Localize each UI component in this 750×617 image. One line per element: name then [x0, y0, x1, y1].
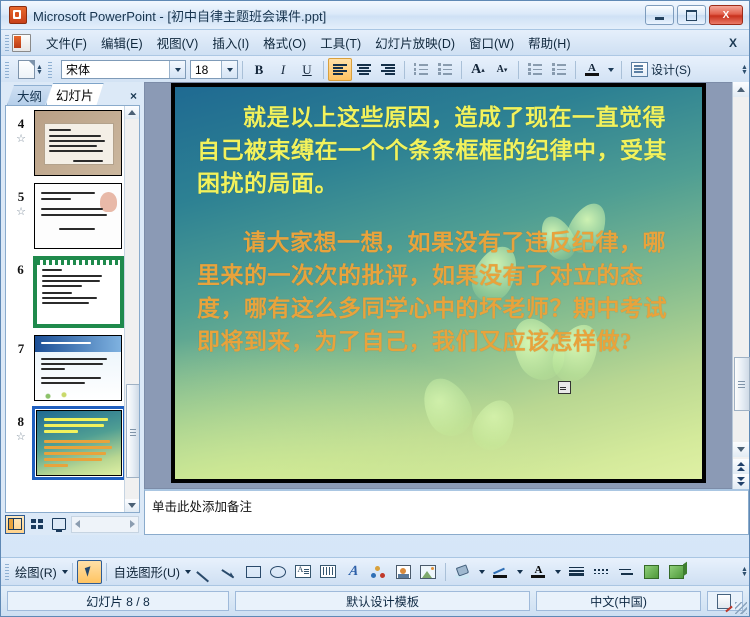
resize-grip[interactable] — [735, 602, 747, 614]
thumbnail-meta: 7 — [8, 335, 34, 357]
font-name-dropdown-icon[interactable] — [169, 61, 185, 78]
thumbnail-scrollbar[interactable] — [124, 106, 139, 512]
drawing-toolbar: 绘图(R) 自选图形(U) A A ▲▼ — [1, 557, 749, 585]
slide-scroll-down-button[interactable] — [733, 442, 749, 457]
align-center-button[interactable] — [352, 58, 376, 81]
thumbnail-preview[interactable] — [36, 410, 122, 476]
font-color-button[interactable]: A — [580, 58, 604, 81]
decrease-font-button[interactable]: A▾ — [490, 58, 514, 81]
separator-6 — [575, 61, 576, 79]
menu-tools[interactable]: 工具(T) — [313, 30, 368, 55]
pane-horizontal-scrollbar[interactable] — [71, 516, 139, 533]
notes-placeholder: 单击此处添加备注 — [152, 500, 252, 514]
thumbnail-scroll-thumb[interactable] — [126, 384, 140, 478]
thumbnail-scroll-down-button[interactable] — [125, 499, 139, 512]
arrow-style-icon[interactable] — [614, 560, 639, 584]
rectangle-icon[interactable] — [241, 560, 266, 584]
menu-view[interactable]: 视图(V) — [150, 30, 206, 55]
text-box-icon[interactable] — [291, 560, 316, 584]
scroll-right-icon[interactable] — [130, 520, 135, 528]
title-bar: Microsoft PowerPoint - [初中自律主题班会课件.ppt] … — [1, 1, 749, 30]
menu-edit[interactable]: 编辑(E) — [94, 30, 150, 55]
tab-outline[interactable]: 大纲 — [7, 85, 52, 105]
fill-color-caret-icon[interactable] — [475, 560, 488, 584]
restore-icon — [686, 10, 697, 21]
powerpoint-icon — [9, 6, 27, 24]
numbered-list-button[interactable] — [409, 58, 433, 81]
font-color-caret-icon[interactable] — [551, 560, 564, 584]
editing-pane: 就是以上这些原因，造成了现在一直觉得自己被束缚在一个个条条框框的纪律中，受其困扰… — [144, 82, 749, 535]
thumbnail-meta: 4 ☆ — [8, 110, 34, 145]
toolbar-grip-2[interactable] — [48, 62, 52, 78]
language-cell: 中文(中国) — [536, 591, 701, 611]
toolbar-grip-1[interactable] — [5, 62, 9, 78]
minimize-button[interactable] — [645, 5, 674, 25]
thumbnail-number: 7 — [8, 341, 34, 357]
separator-1 — [242, 61, 243, 79]
menu-insert[interactable]: 插入(I) — [205, 30, 256, 55]
toolbar-overflow-2[interactable]: ▲▼ — [740, 60, 749, 80]
animation-star-icon[interactable]: ☆ — [8, 133, 34, 145]
clip-art-icon[interactable] — [391, 560, 416, 584]
draw-menu-button[interactable]: 绘图(R) — [12, 563, 60, 581]
status-bar: 幻灯片 8 / 8 默认设计模板 中文(中国) — [1, 585, 749, 616]
draw-separator-1 — [72, 563, 73, 581]
thumbnail-item-4[interactable]: 4 ☆ — [6, 110, 124, 176]
slide-paragraph-1[interactable]: 就是以上这些原因，造成了现在一直觉得自己被束缚在一个个条条框框的纪律中，受其困扰… — [197, 101, 680, 200]
design-button[interactable]: 设计(S) — [626, 59, 696, 80]
align-left-button[interactable] — [328, 58, 352, 81]
font-name-value: 宋体 — [66, 61, 90, 78]
drawing-toolbar-grip[interactable] — [5, 564, 9, 580]
pane-tab-row: 大纲 幻灯片 × — [1, 82, 144, 105]
arrow-icon[interactable] — [216, 560, 241, 584]
font-size-combo[interactable]: 18 — [190, 60, 238, 79]
increase-indent-button[interactable] — [547, 58, 571, 81]
draw-separator-3 — [445, 563, 446, 581]
thumbnail-number: 8 — [8, 414, 34, 430]
design-label: 设计(S) — [651, 61, 691, 78]
notes-pane[interactable]: 单击此处添加备注 — [144, 489, 749, 535]
separator-5 — [518, 61, 519, 79]
wordart-icon[interactable]: A — [341, 560, 366, 584]
thumbnail-item-8[interactable]: 8 ☆ — [6, 408, 124, 478]
slide-canvas-area[interactable]: 就是以上这些原因，造成了现在一直觉得自己被束缚在一个个条条框框的纪律中，受其困扰… — [144, 82, 732, 489]
italic-button[interactable]: I — [271, 58, 295, 81]
thumbnail-scroll-up-button[interactable] — [125, 106, 139, 119]
new-slide-icon[interactable] — [18, 60, 35, 79]
3d-style-icon[interactable] — [664, 560, 689, 584]
thumbnail-item-5[interactable]: 5 ☆ — [6, 183, 124, 249]
draw-menu-caret-icon[interactable] — [62, 570, 68, 574]
separator-4 — [461, 61, 462, 79]
view-buttons-bar — [1, 513, 144, 535]
line-icon[interactable] — [191, 560, 216, 584]
slide-counter-cell: 幻灯片 8 / 8 — [7, 591, 229, 611]
menu-slideshow[interactable]: 幻灯片放映(D) — [368, 30, 462, 55]
font-size-dropdown-icon[interactable] — [221, 61, 237, 78]
font-color-dropdown-icon[interactable] — [604, 58, 617, 81]
thumbnail-list: 4 ☆ — [6, 106, 124, 512]
menu-window[interactable]: 窗口(W) — [462, 30, 521, 55]
line-style-icon[interactable] — [564, 560, 589, 584]
picture-icon[interactable] — [416, 560, 441, 584]
thumbnail-item-6[interactable]: 6 — [6, 256, 124, 328]
thumbnail-preview[interactable] — [34, 110, 122, 176]
document-icon — [12, 34, 31, 52]
menu-grip[interactable] — [5, 35, 9, 51]
menu-format[interactable]: 格式(O) — [256, 30, 313, 55]
line-color-icon[interactable] — [488, 560, 513, 584]
thumbnail-meta: 8 ☆ — [8, 408, 34, 443]
formatting-toolbar: ▲▼ 宋体 18 B I U A▴ A▾ A 设计(S) — [1, 56, 749, 84]
powerpoint-window: Microsoft PowerPoint - [初中自律主题班会课件.ppt] … — [0, 0, 750, 617]
thumbnail-number: 4 — [8, 116, 34, 132]
dash-style-icon[interactable] — [589, 560, 614, 584]
menu-help[interactable]: 帮助(H) — [521, 30, 577, 55]
separator-7 — [621, 61, 622, 79]
close-pane-button[interactable]: × — [130, 89, 137, 103]
close-button[interactable]: X — [709, 5, 743, 25]
slides-pane: 大纲 幻灯片 × 4 ☆ — [1, 82, 144, 535]
shadow-style-icon[interactable] — [639, 560, 664, 584]
draw-separator-2 — [106, 563, 107, 581]
thumbnail-preview[interactable] — [34, 183, 122, 249]
text-cursor-icon — [558, 381, 571, 394]
restore-button[interactable] — [677, 5, 706, 25]
separator-3 — [404, 61, 405, 79]
slide-show-button[interactable] — [49, 515, 69, 534]
slide-text-container[interactable]: 就是以上这些原因，造成了现在一直觉得自己被束缚在一个个条条框框的纪律中，受其困扰… — [175, 101, 702, 358]
window-title: Microsoft PowerPoint - [初中自律主题班会课件.ppt] — [33, 6, 326, 25]
separator-2 — [323, 61, 324, 79]
main-area: 大纲 幻灯片 × 4 ☆ — [1, 82, 749, 535]
close-document-button[interactable]: X — [729, 36, 737, 50]
minimize-icon — [655, 17, 664, 20]
font-size-value: 18 — [195, 63, 208, 77]
menu-bar: 文件(F) 编辑(E) 视图(V) 插入(I) 格式(O) 工具(T) 幻灯片放… — [1, 30, 749, 56]
spell-check-icon — [717, 594, 733, 609]
slide-scroll-up-button[interactable] — [733, 82, 749, 97]
toolbar-overflow-1[interactable]: ▲▼ — [35, 60, 44, 80]
scroll-left-icon[interactable] — [75, 520, 80, 528]
bulleted-list-button[interactable] — [433, 58, 457, 81]
font-color-icon[interactable]: A — [526, 560, 551, 584]
oval-icon[interactable] — [266, 560, 291, 584]
autoshapes-menu-button[interactable]: 自选图形(U) — [111, 563, 183, 581]
slide-paragraph-2[interactable]: 请大家想一想，如果没有了违反纪律，哪里来的一次次的批评，如果没有了对立的态度，哪… — [197, 226, 680, 358]
normal-view-button[interactable] — [5, 515, 25, 534]
fill-color-icon[interactable] — [450, 560, 475, 584]
thumbnail-item-7[interactable]: 7 — [6, 335, 124, 401]
thumbnail-preview[interactable] — [33, 256, 124, 328]
vertical-text-box-icon[interactable] — [316, 560, 341, 584]
tab-slides[interactable]: 幻灯片 — [46, 83, 104, 105]
diagram-icon[interactable] — [366, 560, 391, 584]
increase-font-button[interactable]: A▴ — [466, 58, 490, 81]
animation-star-icon[interactable]: ☆ — [8, 206, 34, 218]
select-arrow-icon[interactable] — [77, 560, 102, 584]
next-slide-button[interactable] — [733, 474, 749, 489]
slide-sorter-button[interactable] — [27, 515, 47, 534]
slide-surface[interactable]: 就是以上这些原因，造成了现在一直觉得自己被束缚在一个个条条框框的纪律中，受其困扰… — [171, 83, 706, 483]
font-name-combo[interactable]: 宋体 — [61, 60, 186, 79]
thumbnail-list-container: 4 ☆ — [5, 105, 140, 513]
underline-button[interactable]: U — [295, 58, 319, 81]
thumbnail-number: 5 — [8, 189, 34, 205]
align-right-button[interactable] — [376, 58, 400, 81]
bold-button[interactable]: B — [247, 58, 271, 81]
thumbnail-meta: 5 ☆ — [8, 183, 34, 218]
butterfly-decoration-icon — [425, 377, 469, 437]
design-icon — [631, 62, 648, 77]
slide-vertical-scrollbar[interactable] — [732, 82, 749, 489]
butterfly-decoration-icon — [475, 399, 513, 451]
menu-file[interactable]: 文件(F) — [39, 30, 94, 55]
line-color-caret-icon[interactable] — [513, 560, 526, 584]
thumbnail-number: 6 — [8, 262, 33, 278]
decrease-indent-button[interactable] — [523, 58, 547, 81]
thumbnail-meta: 6 — [8, 256, 33, 278]
window-controls: X — [645, 5, 743, 25]
design-template-cell: 默认设计模板 — [235, 591, 530, 611]
drawing-toolbar-overflow[interactable]: ▲▼ — [740, 562, 749, 582]
thumbnail-preview[interactable] — [34, 335, 122, 401]
animation-star-icon[interactable]: ☆ — [8, 431, 34, 443]
previous-slide-button[interactable] — [733, 459, 749, 474]
slide-scroll-thumb[interactable] — [734, 357, 750, 411]
